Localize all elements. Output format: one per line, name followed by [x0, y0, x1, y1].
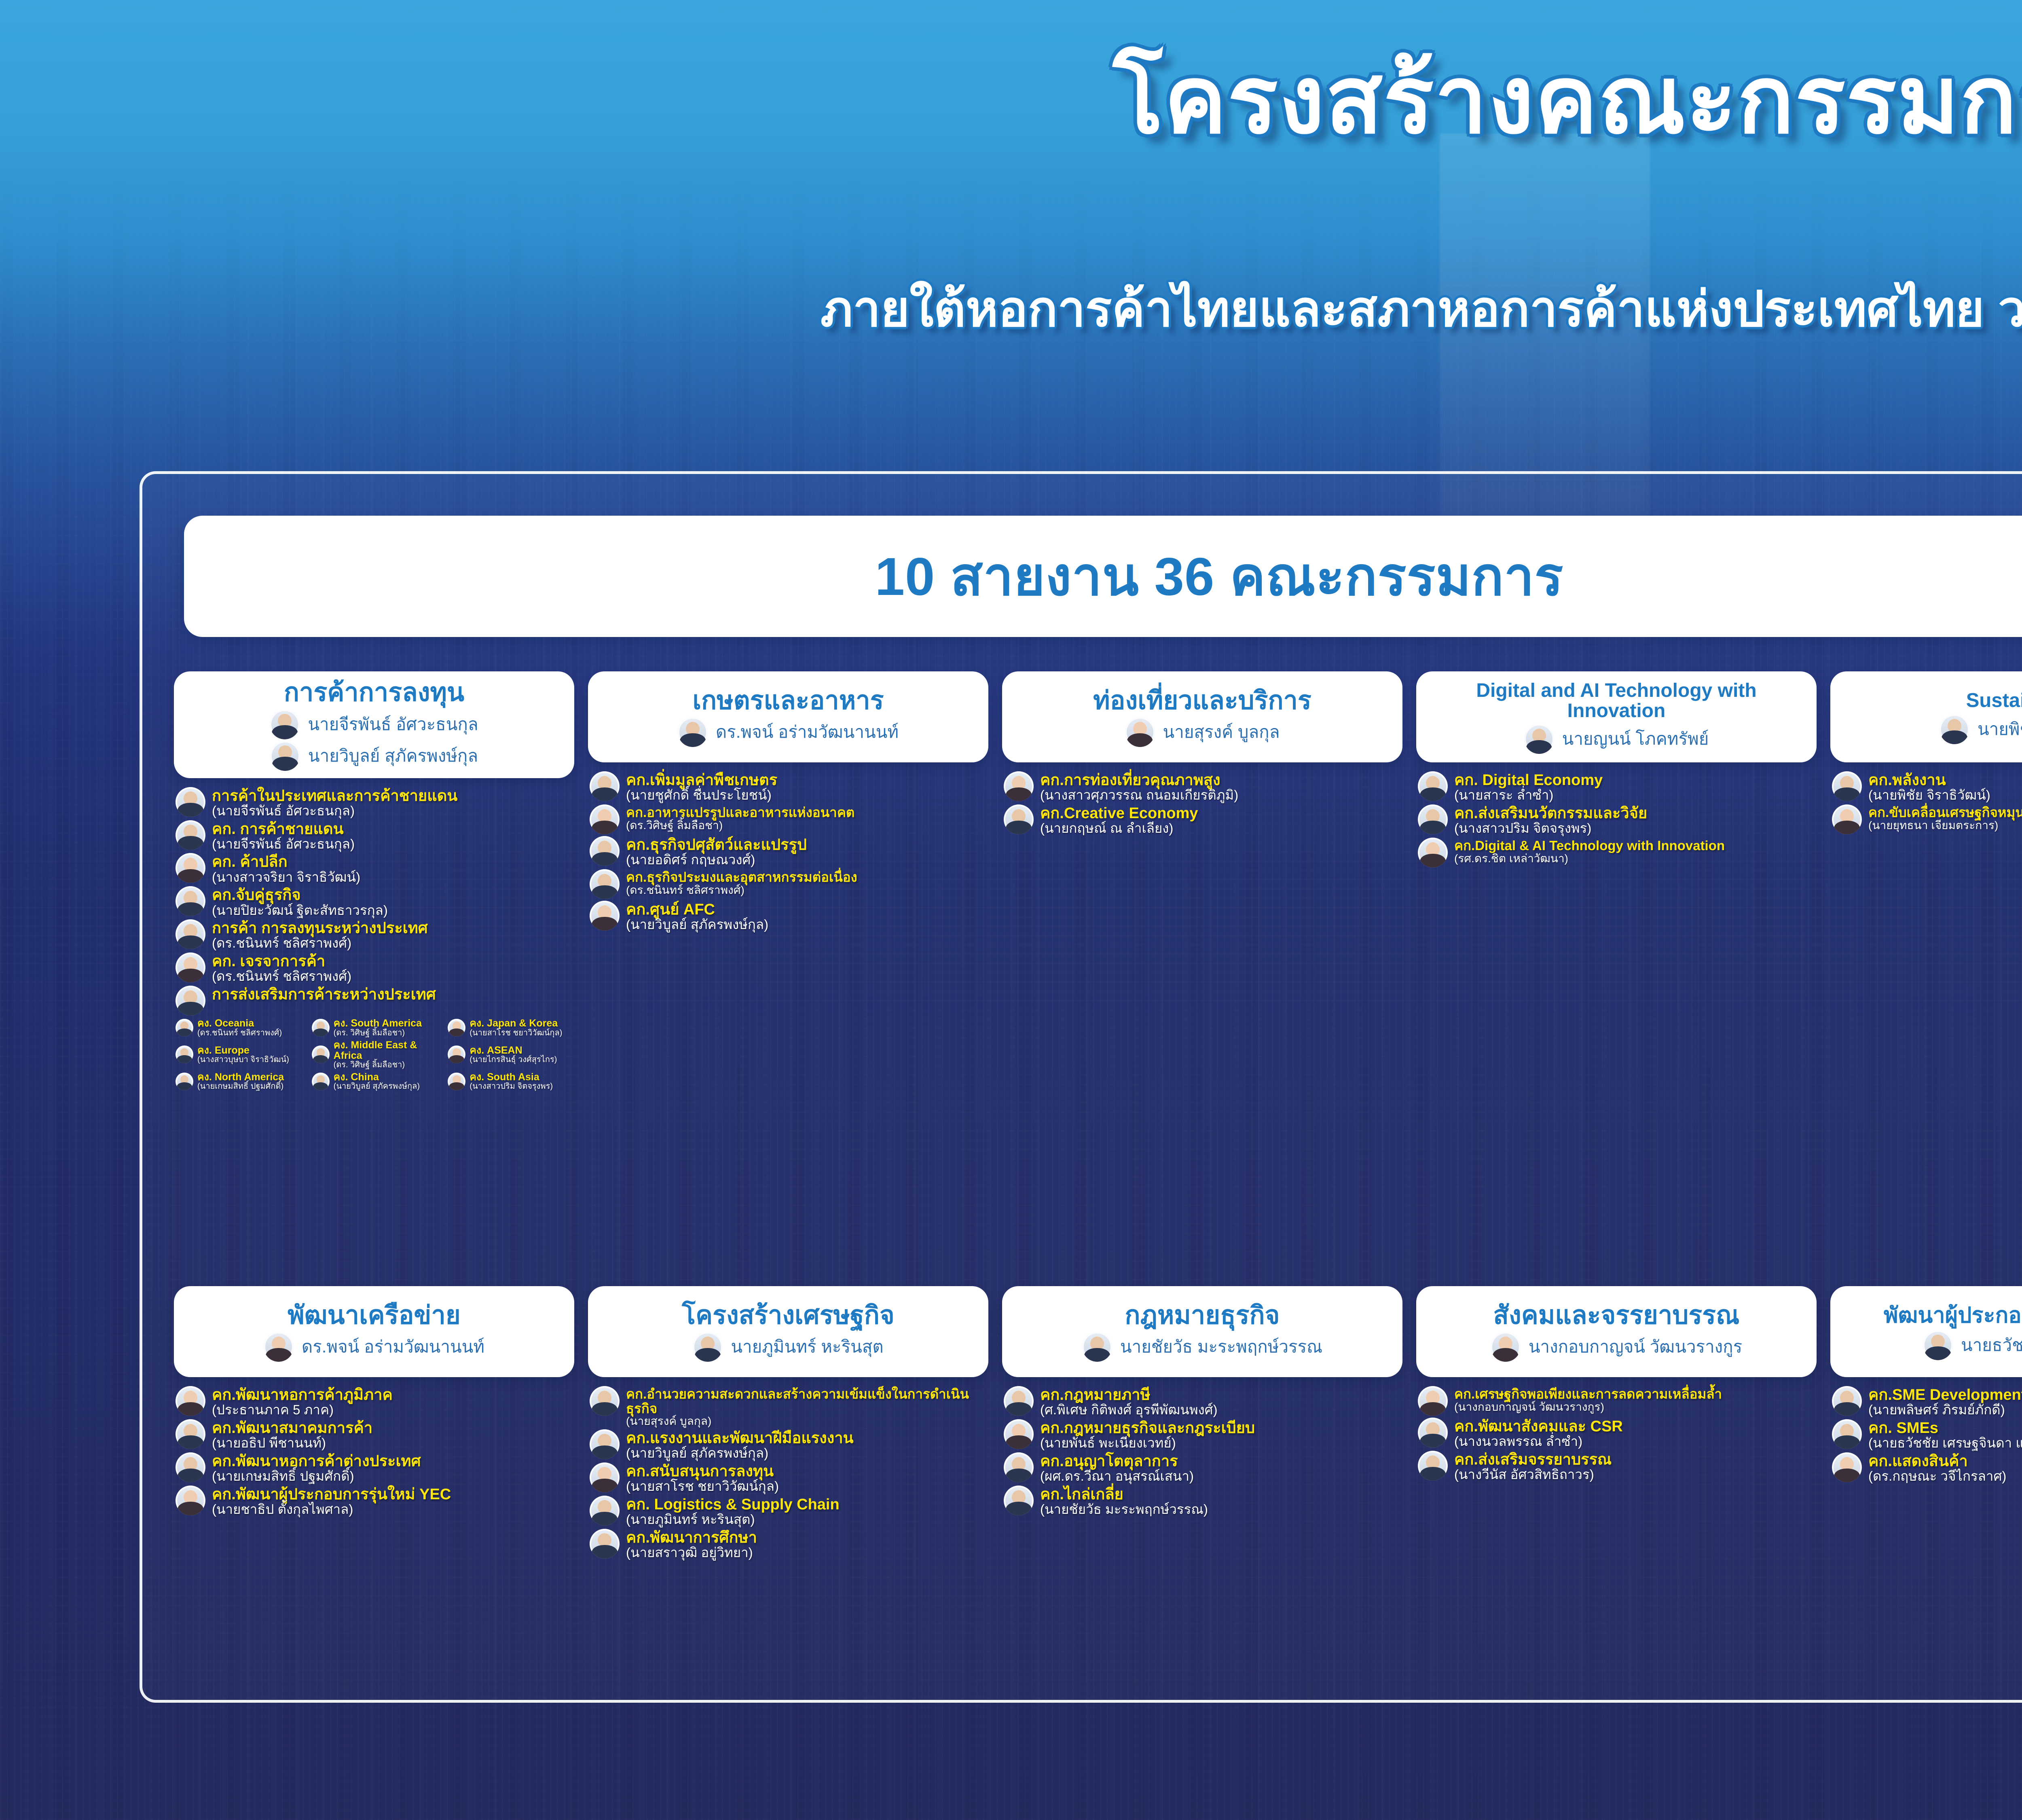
committee-name: คก.แสดงสินค้า — [1868, 1453, 2006, 1470]
committee-name: คก. ค้าปลีก — [212, 854, 360, 870]
avatar — [176, 1452, 205, 1482]
committee-text: คก.พัฒนาหอการค้าภูมิภาค(ประธานภาค 5 ภาค) — [212, 1386, 393, 1418]
group-chair: ดร.พจน์ อร่ามวัฒนานนท์ — [264, 1332, 484, 1362]
committee-text: คก.ส่งเสริมนวัตกรรมและวิจัย(นางสาวปริม จ… — [1454, 804, 1647, 836]
committee-text: คก.สนับสนุนการลงทุน(นายสาโรช ชยาวิวัฒน์ก… — [626, 1462, 779, 1494]
avatar — [176, 1386, 205, 1416]
committee-item[interactable]: คก.อาหารแปรรูปและอาหารแห่งอนาคต(ดร.วิศิษ… — [590, 804, 988, 834]
committee-item[interactable]: การค้า การลงทุนระหว่างประเทศ(ดร.ชนินทร์ … — [176, 919, 574, 951]
committee-item[interactable]: คก. เจรจาการค้า(ดร.ชนินทร์ ชลิศราพงศ์) — [176, 952, 574, 984]
committee-name: คก.กฎหมายธุรกิจและกฎระเบียบ — [1040, 1420, 1255, 1437]
group-header-card: พัฒนาเครือข่ายดร.พจน์ อร่ามวัฒนานนท์ — [174, 1286, 574, 1377]
committee-item[interactable]: คก.ธุรกิจปศุสัตว์และแปรรูป(นายอดิศร์ กฤษ… — [590, 836, 988, 868]
committee-person: (รศ.ดร.ชิต เหล่าวัฒนา) — [1454, 852, 1725, 865]
region-committee-item[interactable]: คง. China(นายวิบูลย์ สุภัครพงษ์กุล) — [312, 1072, 448, 1091]
committee-name: คก.กฎหมายภาษี — [1040, 1387, 1218, 1403]
committee-list: คก.พลังงาน(นายพิชัย จิราธิวัฒน์)คก.ขับเค… — [1830, 771, 2022, 834]
region-person: (ดร. วิศิษฐ์ ลิ้มลือชา) — [334, 1029, 422, 1037]
committee-person: (นายชูศักดิ์ ชื่นประโยชน์) — [626, 788, 777, 803]
region-person: (ดร.ชนินทร์ ชลิศราพงศ์) — [197, 1029, 282, 1037]
summary-banner: 10 สายงาน 36 คณะกรรมการ — [184, 516, 2022, 637]
avatar — [1004, 1486, 1034, 1515]
page-subtitle: ภายใต้หอการค้าไทยและสภาหอการค้าแห่งประเท… — [0, 283, 2022, 335]
committee-item[interactable]: คก.SME Development Center(นายพลิษศร์ ภิร… — [1832, 1386, 2022, 1418]
group-title: Sustainability — [1966, 690, 2022, 711]
region-committee-item[interactable]: คง. South America(ดร. วิศิษฐ์ ลิ้มลือชา) — [312, 1018, 448, 1037]
group-chair-name: นายสุรงค์ บูลกุล — [1163, 719, 1280, 745]
committee-text: คก.กฎหมายภาษี(ศ.พิเศษ กิติพงศ์ อุรพีพัฒน… — [1040, 1386, 1218, 1418]
committee-person: (นายสาโรช ชยาวิวัฒน์กุล) — [626, 1479, 779, 1494]
committee-list: คก.เพิ่มมูลค่าพืชเกษตร(นายชูศักดิ์ ชื่นป… — [588, 771, 988, 932]
region-committee-item[interactable]: คง. Oceania(ดร.ชนินทร์ ชลิศราพงศ์) — [176, 1018, 312, 1037]
committee-person: (นางนวลพรรณ ล่ำซำ) — [1454, 1434, 1623, 1449]
group-card[interactable]: กฎหมายธุรกิจนายชัยวัธ มะระพฤกษ์วรรณคก.กฎ… — [1002, 1286, 1402, 1562]
avatar — [1418, 1386, 1448, 1416]
committee-list: การค้าในประเทศและการค้าชายแดน(นายจีรพันธ… — [174, 787, 574, 1094]
avatar — [176, 1073, 193, 1090]
committee-person: (ดร.ชนินทร์ ชลิศราพงศ์) — [212, 969, 351, 984]
avatar — [448, 1045, 465, 1063]
committee-name: คก.Creative Economy — [1040, 805, 1198, 822]
group-chair: ดร.พจน์ อร่ามวัฒนานนท์ — [678, 717, 899, 747]
group-title: พัฒนาเครือข่าย — [288, 1302, 461, 1329]
committee-person: (นายพิชัย จิราธิวัฒน์) — [1868, 788, 1990, 803]
committee-text: คก.SME Development Center(นายพลิษศร์ ภิร… — [1868, 1386, 2022, 1418]
committee-text: คก.การท่องเที่ยวคุณภาพสูง(นางสาวศุภวรรณ … — [1040, 771, 1238, 803]
committee-name: คก.การท่องเที่ยวคุณภาพสูง — [1040, 772, 1238, 789]
committee-name: คก.พัฒนาสังคมและ CSR — [1454, 1418, 1623, 1435]
avatar — [176, 952, 205, 982]
committee-list: คก.กฎหมายภาษี(ศ.พิเศษ กิติพงศ์ อุรพีพัฒน… — [1002, 1386, 1402, 1517]
committee-item[interactable]: คก.เศรษฐกิจพอเพียงและการลดความเหลื่อมล้ำ… — [1418, 1386, 1817, 1416]
committee-text: คก.อำนวยความสะดวกและสร้างความเข้มแข็งในก… — [626, 1386, 988, 1428]
committee-name: คก.ไกล่เกลี่ย — [1040, 1486, 1208, 1503]
committee-person: (นายพันธ์ พะเนียงเวทย์) — [1040, 1436, 1255, 1451]
group-chair-name: นายจีรพันธ์ อัศวะธนกุล — [308, 711, 478, 738]
group-chair-list: ดร.พจน์ อร่ามวัฒนานนท์ — [678, 717, 899, 747]
region-text: คง. South America(ดร. วิศิษฐ์ ลิ้มลือชา) — [334, 1018, 422, 1037]
committee-item[interactable]: คก.จับคู่ธุรกิจ(นายปิยะวัฒน์ ฐิตะสัทธาวร… — [176, 886, 574, 918]
committee-name: คก.พัฒนาสมาคมการค้า — [212, 1420, 372, 1437]
committee-text: คก.แรงงานและพัฒนาฝีมือแรงงาน(นายวิบูลย์ … — [626, 1429, 854, 1461]
committee-name: คก.เพิ่มมูลค่าพืชเกษตร — [626, 772, 777, 789]
avatar — [1004, 804, 1034, 834]
committee-item[interactable]: คก.พัฒนาสังคมและ CSR(นางนวลพรรณ ล่ำซำ) — [1418, 1418, 1817, 1449]
committee-person: (นายชัยวัธ มะระพฤกษ์วรรณ) — [1040, 1502, 1208, 1517]
region-text: คง. Oceania(ดร.ชนินทร์ ชลิศราพงศ์) — [197, 1018, 282, 1037]
region-text: คง. China(นายวิบูลย์ สุภัครพงษ์กุล) — [334, 1072, 420, 1091]
committee-name: การส่งเสริมการค้าระหว่างประเทศ — [212, 986, 436, 1003]
region-name: คง. North America — [197, 1072, 284, 1082]
region-name: คง. Middle East & Africa — [334, 1040, 448, 1061]
committee-person: (นายวิบูลย์ สุภัครพงษ์กุล) — [626, 1446, 854, 1461]
committee-text: คก.เพิ่มมูลค่าพืชเกษตร(นายชูศักดิ์ ชื่นป… — [626, 771, 777, 803]
committee-person: (นายพลิษศร์ ภิรมย์ภักดี) — [1868, 1403, 2022, 1418]
group-chair-name: นายวิบูลย์ สุภัครพงษ์กุล — [308, 743, 478, 769]
group-header-card: กฎหมายธุรกิจนายชัยวัธ มะระพฤกษ์วรรณ — [1002, 1286, 1402, 1377]
avatar — [590, 1386, 620, 1416]
committee-item[interactable]: คก.พัฒนาการศึกษา(นายสราวุฒิ อยู่วิทยา) — [590, 1529, 988, 1560]
committee-item[interactable]: คก.สนับสนุนการลงทุน(นายสาโรช ชยาวิวัฒน์ก… — [590, 1462, 988, 1494]
group-card[interactable]: พัฒนาเครือข่ายดร.พจน์ อร่ามวัฒนานนท์คก.พ… — [174, 1286, 574, 1562]
committee-person: (นายกฤษณ์ ณ ลำเลียง) — [1040, 821, 1198, 836]
committee-text: คก. Digital Economy(นายสาระ ล่ำซำ) — [1454, 771, 1603, 803]
committee-name: คก.อาหารแปรรูปและอาหารแห่งอนาคต — [626, 805, 854, 820]
committee-person: (ดร.ชนินทร์ ชลิศราพงศ์) — [626, 884, 857, 896]
group-chair: นายพิชัย จิราธิวัฒน์ — [1940, 714, 2022, 744]
committee-person: (นางสาวจริยา จิราธิวัฒน์) — [212, 870, 360, 885]
committee-name: คก.ศูนย์ AFC — [626, 902, 768, 918]
committee-item[interactable]: คก. Logistics & Supply Chain(นายภูมินทร์… — [590, 1496, 988, 1527]
committee-text: คก. การค้าชายแดน(นายจีรพันธ์ อัศวะธนกุล) — [212, 820, 355, 852]
group-title: พัฒนาผู้ประกอบการและ SMEs — [1884, 1304, 2022, 1327]
committee-name: คก.อนุญาโตตุลาการ — [1040, 1453, 1194, 1470]
committee-list: คก.เศรษฐกิจพอเพียงและการลดความเหลื่อมล้ำ… — [1416, 1386, 1817, 1482]
group-card[interactable]: สังคมและจรรยาบรรณนางกอบกาญจน์ วัฒนวรางกู… — [1416, 1286, 1817, 1562]
avatar — [176, 886, 205, 916]
committee-text: คก.Digital & AI Technology with Innovati… — [1454, 838, 1725, 865]
avatar — [270, 709, 300, 739]
group-chair-name: นายพิชัย จิราธิวัฒน์ — [1978, 716, 2022, 743]
group-chair-name: ดร.พจน์ อร่ามวัฒนานนท์ — [302, 1333, 484, 1360]
committee-item[interactable]: คก.Digital & AI Technology with Innovati… — [1418, 838, 1817, 868]
committee-person: (นายยุทธนา เจียมตระการ) — [1868, 819, 2022, 832]
group-chair-name: นายธวัชชัย เศรษฐจินดา — [1961, 1332, 2022, 1359]
group-chair-list: นายสุรงค์ บูลกุล — [1125, 717, 1280, 747]
committee-item[interactable]: การส่งเสริมการค้าระหว่างประเทศ — [176, 986, 574, 1016]
avatar — [1004, 771, 1034, 801]
committee-item[interactable]: คก.อนุญาโตตุลาการ(ผศ.ดร.วีณา อนุสรณ์เสนา… — [1004, 1452, 1402, 1484]
avatar — [176, 853, 205, 883]
avatar — [270, 741, 300, 771]
avatar — [1004, 1386, 1034, 1416]
avatar — [1491, 1332, 1521, 1362]
committee-person: (นางสาวศุภวรรณ ถนอมเกียรติภูมิ) — [1040, 788, 1238, 803]
committee-person: (นายจีรพันธ์ อัศวะธนกุล) — [212, 804, 457, 819]
committee-name: การค้า การลงทุนระหว่างประเทศ — [212, 920, 428, 937]
committee-item[interactable]: คก. Digital Economy(นายสาระ ล่ำซำ) — [1418, 771, 1817, 803]
committee-item[interactable]: คก.ศูนย์ AFC(นายวิบูลย์ สุภัครพงษ์กุล) — [590, 901, 988, 932]
group-chair: นายธวัชชัย เศรษฐจินดา — [1923, 1330, 2022, 1360]
committee-text: คก.ธุรกิจปศุสัตว์และแปรรูป(นายอดิศร์ กฤษ… — [626, 836, 807, 868]
avatar — [176, 1419, 205, 1449]
committee-text: การค้าในประเทศและการค้าชายแดน(นายจีรพันธ… — [212, 787, 457, 819]
region-text: คง. Middle East & Africa(ดร. วิศิษฐ์ ลิ้… — [334, 1040, 448, 1070]
group-title: ท่องเที่ยวและบริการ — [1093, 688, 1311, 714]
region-text: คง. North America(นายเกษมสิทธิ์ ปฐมศักดิ… — [197, 1072, 284, 1091]
committee-text: คก.กฎหมายธุรกิจและกฎระเบียบ(นายพันธ์ พะเ… — [1040, 1419, 1255, 1451]
committee-list: คก.อำนวยความสะดวกและสร้างความเข้มแข็งในก… — [588, 1386, 988, 1560]
avatar — [176, 787, 205, 817]
avatar — [312, 1019, 330, 1037]
committee-person: (นายเกษมสิทธิ์ ปฐมศักดิ์) — [212, 1469, 421, 1484]
committee-name: คก.พัฒนาหอการค้าภูมิภาค — [212, 1387, 393, 1403]
group-card[interactable]: พัฒนาผู้ประกอบการและ SMEsนายธวัชชัย เศรษ… — [1830, 1286, 2022, 1562]
summary-banner-text: 10 สายงาน 36 คณะกรรมการ — [875, 534, 1564, 619]
group-chair-list: นายภูมินทร์ หะรินสุต — [693, 1332, 883, 1362]
region-person: (ดร. วิศิษฐ์ ลิ้มลือชา) — [334, 1061, 448, 1069]
group-chair-list: ดร.พจน์ อร่ามวัฒนานนท์ — [264, 1332, 484, 1362]
committee-text: คก.ขับเคลื่อนเศรษฐกิจหมุนเวียนและสิ่งแวด… — [1868, 804, 2022, 832]
group-header-card: สังคมและจรรยาบรรณนางกอบกาญจน์ วัฒนวรางกู… — [1416, 1286, 1817, 1377]
avatar — [590, 1429, 620, 1459]
committee-text: คก.ส่งเสริมจรรยาบรรณ(นางวีนัส อัศวสิทธิถ… — [1454, 1451, 1612, 1482]
region-person: (นางสาวปริม จิตจรุงพร) — [470, 1082, 553, 1091]
avatar — [1923, 1330, 1953, 1360]
committee-person: (นายสุรงค์ บูลกุล) — [626, 1415, 988, 1427]
committee-text: คก.เศรษฐกิจพอเพียงและการลดความเหลื่อมล้ำ… — [1454, 1386, 1722, 1413]
committee-person: (ดร.กฤษณะ วจีไกรลาศ) — [1868, 1469, 2006, 1484]
avatar — [1004, 1419, 1034, 1449]
group-title: สังคมและจรรยาบรรณ — [1493, 1302, 1740, 1329]
region-committee-item[interactable]: คง. North America(นายเกษมสิทธิ์ ปฐมศักดิ… — [176, 1072, 312, 1091]
group-chair: นายสุรงค์ บูลกุล — [1125, 717, 1280, 747]
committee-list: คก.SME Development Center(นายพลิษศร์ ภิร… — [1830, 1386, 2022, 1484]
committee-text: คก.จับคู่ธุรกิจ(นายปิยะวัฒน์ ฐิตะสัทธาวร… — [212, 886, 388, 918]
committee-text: คก.อนุญาโตตุลาการ(ผศ.ดร.วีณา อนุสรณ์เสนา… — [1040, 1452, 1194, 1484]
committee-item[interactable]: คก. การค้าชายแดน(นายจีรพันธ์ อัศวะธนกุล) — [176, 820, 574, 852]
committee-item[interactable]: คก.ส่งเสริมนวัตกรรมและวิจัย(นางสาวปริม จ… — [1418, 804, 1817, 836]
group-title: การค้าการลงทุน — [284, 679, 464, 706]
committee-person: (นายวิบูลย์ สุภัครพงษ์กุล) — [626, 917, 768, 932]
region-committee-item[interactable]: คง. Middle East & Africa(ดร. วิศิษฐ์ ลิ้… — [312, 1040, 448, 1070]
group-card[interactable]: ท่องเที่ยวและบริการนายสุรงค์ บูลกุลคก.กา… — [1002, 671, 1402, 1093]
avatar — [1832, 1452, 1862, 1482]
committee-item[interactable]: คก.การท่องเที่ยวคุณภาพสูง(นางสาวศุภวรรณ … — [1004, 771, 1402, 803]
region-name: คง. Europe — [197, 1045, 289, 1056]
group-chair: นางกอบกาญจน์ วัฒนวรางกูร — [1491, 1332, 1742, 1362]
avatar — [1418, 1451, 1448, 1481]
avatar — [1418, 1418, 1448, 1448]
region-person: (นายสาโรช ชยาวิวัฒน์กุล) — [470, 1029, 562, 1037]
committee-name: คก. SMEs — [1868, 1420, 2022, 1437]
region-name: คง. China — [334, 1072, 420, 1082]
group-chair-list: นายพิชัย จิราธิวัฒน์ — [1940, 714, 2022, 744]
group-header-card: โครงสร้างเศรษฐกิจนายภูมินทร์ หะรินสุต — [588, 1286, 988, 1377]
avatar — [590, 771, 620, 801]
committee-item[interactable]: คก.พัฒนาผู้ประกอบการรุ่นใหม่ YEC(นายชาธิ… — [176, 1486, 574, 1517]
committee-text: คก.พัฒนาหอการค้าต่างประเทศ(นายเกษมสิทธิ์… — [212, 1452, 421, 1484]
committee-item[interactable]: การค้าในประเทศและการค้าชายแดน(นายจีรพันธ… — [176, 787, 574, 819]
committee-person: (นายสาระ ล่ำซำ) — [1454, 788, 1603, 803]
committee-person: (นายชาธิป ตั้งกุลไพศาล) — [212, 1502, 451, 1517]
committee-text: คก. Logistics & Supply Chain(นายภูมินทร์… — [626, 1496, 840, 1527]
committee-item[interactable]: คก.ไกล่เกลี่ย(นายชัยวัธ มะระพฤกษ์วรรณ) — [1004, 1486, 1402, 1517]
committee-item[interactable]: คก.Creative Economy(นายกฤษณ์ ณ ลำเลียง) — [1004, 804, 1402, 836]
committee-text: การส่งเสริมการค้าระหว่างประเทศ — [212, 986, 436, 1003]
committee-list: คก.การท่องเที่ยวคุณภาพสูง(นางสาวศุภวรรณ … — [1002, 771, 1402, 836]
group-chair-name: นายภูมินทร์ หะรินสุต — [731, 1333, 883, 1360]
avatar — [1832, 804, 1862, 834]
committee-item[interactable]: คก.แสดงสินค้า(ดร.กฤษณะ วจีไกรลาศ) — [1832, 1452, 2022, 1484]
committee-text: คก.พัฒนาผู้ประกอบการรุ่นใหม่ YEC(นายชาธิ… — [212, 1486, 451, 1517]
committee-person: (นายสราวุฒิ อยู่วิทยา) — [626, 1545, 757, 1560]
group-chair: นายภูมินทร์ หะรินสุต — [693, 1332, 883, 1362]
committee-name: คก. Logistics & Supply Chain — [626, 1496, 840, 1513]
avatar — [590, 901, 620, 931]
committee-name: คก.พลังงาน — [1868, 772, 1990, 789]
committee-person: (นางกอบกาญจน์ วัฒนวรางกูร) — [1454, 1401, 1722, 1413]
avatar — [590, 1496, 620, 1526]
committee-text: คก.พัฒนาสมาคมการค้า(นายอธิป พีชานนท์) — [212, 1419, 372, 1451]
avatar — [1418, 771, 1448, 801]
committee-name: คก.แรงงานและพัฒนาฝีมือแรงงาน — [626, 1430, 854, 1447]
committee-item[interactable]: คก.อำนวยความสะดวกและสร้างความเข้มแข็งในก… — [590, 1386, 988, 1428]
avatar — [1832, 1419, 1862, 1449]
avatar — [693, 1332, 723, 1362]
group-row-bottom: พัฒนาเครือข่ายดร.พจน์ อร่ามวัฒนานนท์คก.พ… — [174, 1286, 2022, 1562]
region-person: (นายไกรสินธุ์ วงศ์สุรไกร) — [470, 1056, 557, 1064]
avatar — [448, 1019, 465, 1037]
committee-text: คก.แสดงสินค้า(ดร.กฤษณะ วจีไกรลาศ) — [1868, 1452, 2006, 1484]
committee-name: คก.พัฒนาการศึกษา — [626, 1530, 757, 1546]
group-card[interactable]: โครงสร้างเศรษฐกิจนายภูมินทร์ หะรินสุตคก.… — [588, 1286, 988, 1562]
committee-text: คก.พลังงาน(นายพิชัย จิราธิวัฒน์) — [1868, 771, 1990, 803]
committee-name: คก.Digital & AI Technology with Innovati… — [1454, 838, 1725, 853]
committee-text: คก. เจรจาการค้า(ดร.ชนินทร์ ชลิศราพงศ์) — [212, 952, 351, 984]
avatar — [176, 1486, 205, 1515]
group-row-top: การค้าการลงทุนนายจีรพันธ์ อัศวะธนกุลนายว… — [174, 671, 2022, 1093]
group-chair-list: นางกอบกาญจน์ วัฒนวรางกูร — [1491, 1332, 1742, 1362]
committee-item[interactable]: คก.เพิ่มมูลค่าพืชเกษตร(นายชูศักดิ์ ชื่นป… — [590, 771, 988, 803]
region-text: คง. Europe(นางสาวบุษบา จิราธิวัฒน์) — [197, 1045, 289, 1064]
group-title: โครงสร้างเศรษฐกิจ — [682, 1302, 895, 1329]
avatar — [1832, 771, 1862, 801]
avatar — [176, 820, 205, 850]
group-chair-name: นายชัยวัธ มะระพฤกษ์วรรณ — [1120, 1333, 1322, 1360]
group-title: เกษตรและอาหาร — [693, 688, 884, 714]
committee-item[interactable]: คก.กฎหมายธุรกิจและกฎระเบียบ(นายพันธ์ พะเ… — [1004, 1419, 1402, 1451]
committee-person: (นายภูมินทร์ หะรินสุต) — [626, 1512, 840, 1527]
committee-item[interactable]: คก.ธุรกิจประมงและอุตสาหกรรมต่อเนื่อง(ดร.… — [590, 869, 988, 899]
committee-name: คก.ส่งเสริมจรรยาบรรณ — [1454, 1452, 1612, 1468]
page-title: โครงสร้างคณะกรรมการ — [0, 53, 2022, 148]
group-header-card: การค้าการลงทุนนายจีรพันธ์ อัศวะธนกุลนายว… — [174, 671, 574, 778]
avatar — [264, 1332, 294, 1362]
avatar — [1832, 1386, 1862, 1416]
committee-text: คก.ไกล่เกลี่ย(นายชัยวัธ มะระพฤกษ์วรรณ) — [1040, 1486, 1208, 1517]
committee-name: คก.พัฒนาหอการค้าต่างประเทศ — [212, 1453, 421, 1470]
committee-item[interactable]: คก.แรงงานและพัฒนาฝีมือแรงงาน(นายวิบูลย์ … — [590, 1429, 988, 1461]
committee-text: การค้า การลงทุนระหว่างประเทศ(ดร.ชนินทร์ … — [212, 919, 428, 951]
committee-person: (นายปิยะวัฒน์ ฐิตะสัทธาวรกุล) — [212, 903, 388, 918]
group-chair: นายจีรพันธ์ อัศวะธนกุล — [270, 709, 478, 739]
committee-item[interactable]: คก.กฎหมายภาษี(ศ.พิเศษ กิติพงศ์ อุรพีพัฒน… — [1004, 1386, 1402, 1418]
group-header-card: พัฒนาผู้ประกอบการและ SMEsนายธวัชชัย เศรษ… — [1830, 1286, 2022, 1377]
region-text: คง. ASEAN(นายไกรสินธุ์ วงศ์สุรไกร) — [470, 1045, 557, 1064]
group-chair: นายชัยวัธ มะระพฤกษ์วรรณ — [1082, 1332, 1322, 1362]
committee-item[interactable]: คก.พัฒนาหอการค้าภูมิภาค(ประธานภาค 5 ภาค) — [176, 1386, 574, 1418]
committee-item[interactable]: คก. SMEs(นายธวัชชัย เศรษฐจินดา และ นางพน… — [1832, 1419, 2022, 1451]
page-header: โครงสร้างคณะกรรมการ ภายใต้หอการค้าไทยและ… — [0, 0, 2022, 457]
region-text: คง. Japan & Korea(นายสาโรช ชยาวิวัฒน์กุล… — [470, 1018, 562, 1037]
avatar — [1125, 717, 1155, 747]
avatar — [678, 717, 708, 747]
region-name: คง. ASEAN — [470, 1045, 557, 1056]
committee-list: คก. Digital Economy(นายสาระ ล่ำซำ)คก.ส่ง… — [1416, 771, 1817, 868]
committee-person: (ศ.พิเศษ กิติพงศ์ อุรพีพัฒนพงศ์) — [1040, 1403, 1218, 1418]
committee-text: คก.พัฒนาการศึกษา(นายสราวุฒิ อยู่วิทยา) — [626, 1529, 757, 1560]
avatar — [1082, 1332, 1112, 1362]
group-chair-list: นายธวัชชัย เศรษฐจินดา — [1923, 1330, 2022, 1360]
committee-name: คก.SME Development Center — [1868, 1387, 2022, 1403]
committee-name: คก. Digital Economy — [1454, 772, 1603, 789]
committee-name: คก.ขับเคลื่อนเศรษฐกิจหมุนเวียนและสิ่งแวด… — [1868, 805, 2022, 820]
avatar — [176, 986, 205, 1016]
avatar — [1418, 804, 1448, 834]
avatar — [176, 919, 205, 949]
committee-name: คก.เศรษฐกิจพอเพียงและการลดความเหลื่อมล้ำ — [1454, 1387, 1722, 1401]
group-card[interactable]: Digital and AI Technology with Innovatio… — [1416, 671, 1817, 1093]
committee-item[interactable]: คก.พัฒนาสมาคมการค้า(นายอธิป พีชานนท์) — [176, 1419, 574, 1451]
region-name: คง. Oceania — [197, 1018, 282, 1029]
committee-name: คก.จับคู่ธุรกิจ — [212, 887, 388, 904]
region-committee-item[interactable]: คง. Europe(นางสาวบุษบา จิราธิวัฒน์) — [176, 1040, 312, 1070]
group-title: กฎหมายธุรกิจ — [1125, 1302, 1280, 1329]
avatar — [176, 1019, 193, 1037]
avatar — [590, 869, 620, 899]
group-card[interactable]: Sustainabilityนายพิชัย จิราธิวัฒน์คก.พลั… — [1830, 671, 2022, 1093]
avatar — [590, 1529, 620, 1559]
region-committee-item[interactable]: คง. Japan & Korea(นายสาโรช ชยาวิวัฒน์กุล… — [448, 1018, 584, 1037]
committee-item[interactable]: คก.พลังงาน(นายพิชัย จิราธิวัฒน์) — [1832, 771, 2022, 803]
group-header-card: Digital and AI Technology with Innovatio… — [1416, 671, 1817, 762]
committee-item[interactable]: คก.ขับเคลื่อนเศรษฐกิจหมุนเวียนและสิ่งแวด… — [1832, 804, 2022, 834]
committee-name: คก. เจรจาการค้า — [212, 953, 351, 970]
avatar — [590, 1462, 620, 1492]
committee-item[interactable]: คก.ส่งเสริมจรรยาบรรณ(นางวีนัส อัศวสิทธิถ… — [1418, 1451, 1817, 1482]
group-card[interactable]: เกษตรและอาหารดร.พจน์ อร่ามวัฒนานนท์คก.เพ… — [588, 671, 988, 1093]
committee-person: (นายอธิป พีชานนท์) — [212, 1436, 372, 1451]
group-chair-list: นายจีรพันธ์ อัศวะธนกุลนายวิบูลย์ สุภัครพ… — [270, 709, 478, 771]
committee-item[interactable]: คก. ค้าปลีก(นางสาวจริยา จิราธิวัฒน์) — [176, 853, 574, 885]
avatar — [1418, 838, 1448, 868]
committee-item[interactable]: คก.พัฒนาหอการค้าต่างประเทศ(นายเกษมสิทธิ์… — [176, 1452, 574, 1484]
group-header-card: Sustainabilityนายพิชัย จิราธิวัฒน์ — [1830, 671, 2022, 762]
avatar — [1940, 714, 1969, 744]
group-card[interactable]: การค้าการลงทุนนายจีรพันธ์ อัศวะธนกุลนายว… — [174, 671, 574, 1093]
committee-person: (นางสาวปริม จิตจรุงพร) — [1454, 821, 1647, 836]
region-text: คง. South Asia(นางสาวปริม จิตจรุงพร) — [470, 1072, 553, 1091]
region-committee-item[interactable]: คง. ASEAN(นายไกรสินธุ์ วงศ์สุรไกร) — [448, 1040, 584, 1070]
committee-text: คก.อาหารแปรรูปและอาหารแห่งอนาคต(ดร.วิศิษ… — [626, 804, 854, 832]
committee-text: คก. SMEs(นายธวัชชัย เศรษฐจินดา และ นางพน… — [1868, 1419, 2022, 1451]
committee-text: คก. ค้าปลีก(นางสาวจริยา จิราธิวัฒน์) — [212, 853, 360, 885]
region-name: คง. South Asia — [470, 1072, 553, 1082]
committee-text: คก.ศูนย์ AFC(นายวิบูลย์ สุภัครพงษ์กุล) — [626, 901, 768, 932]
committee-text: คก.ธุรกิจประมงและอุตสาหกรรมต่อเนื่อง(ดร.… — [626, 869, 857, 896]
region-person: (นางสาวบุษบา จิราธิวัฒน์) — [197, 1056, 289, 1064]
committee-person: (ผศ.ดร.วีณา อนุสรณ์เสนา) — [1040, 1469, 1194, 1484]
group-header-card: เกษตรและอาหารดร.พจน์ อร่ามวัฒนานนท์ — [588, 671, 988, 762]
group-chair-name: นายญนน์ โภคทรัพย์ — [1562, 726, 1709, 752]
region-name: คง. South America — [334, 1018, 422, 1029]
committee-name: การค้าในประเทศและการค้าชายแดน — [212, 788, 457, 804]
committee-list: คก.พัฒนาหอการค้าภูมิภาค(ประธานภาค 5 ภาค)… — [174, 1386, 574, 1517]
committee-name: คก.อำนวยความสะดวกและสร้างความเข้มแข็งในก… — [626, 1387, 988, 1416]
committee-person: (นางวีนัส อัศวสิทธิถาวร) — [1454, 1467, 1612, 1482]
region-committee-item[interactable]: คง. South Asia(นางสาวปริม จิตจรุงพร) — [448, 1072, 584, 1091]
committee-person: (นายอดิศร์ กฤษณวงศ์) — [626, 853, 807, 868]
region-name: คง. Japan & Korea — [470, 1018, 562, 1029]
group-chair-name: ดร.พจน์ อร่ามวัฒนานนท์ — [716, 719, 899, 745]
committee-name: คก.พัฒนาผู้ประกอบการรุ่นใหม่ YEC — [212, 1486, 451, 1503]
avatar — [1004, 1452, 1034, 1482]
committee-person: (ประธานภาค 5 ภาค) — [212, 1403, 393, 1418]
region-person: (นายวิบูลย์ สุภัครพงษ์กุล) — [334, 1082, 420, 1091]
avatar — [590, 804, 620, 834]
committee-person: (ดร.วิศิษฐ์ ลิ้มลือชา) — [626, 819, 854, 832]
